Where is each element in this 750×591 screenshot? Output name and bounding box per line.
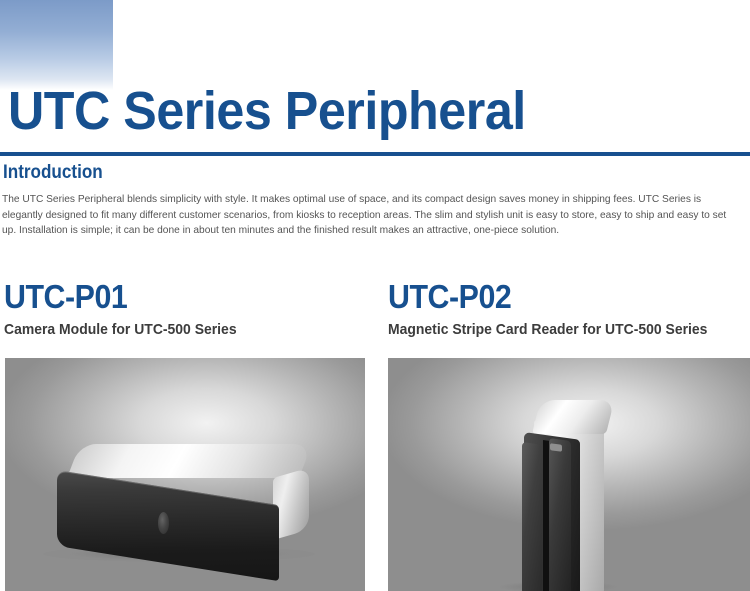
page-title: UTC Series Peripheral: [8, 84, 526, 138]
product-brochure-page: UTC Series Peripheral Introduction The U…: [0, 0, 750, 591]
product-model-utc-p02: UTC-P02: [388, 280, 721, 313]
introduction-body-text: The UTC Series Peripheral blends simplic…: [2, 192, 728, 239]
product-block-utc-p02: UTC-P02 Magnetic Stripe Card Reader for …: [388, 280, 750, 337]
card-reader-read-head-icon: [550, 443, 562, 452]
product-description-utc-p02: Magnetic Stripe Card Reader for UTC-500 …: [388, 322, 725, 337]
camera-module-illustration: [57, 444, 309, 554]
product-description-utc-p01: Camera Module for UTC-500 Series: [4, 322, 344, 337]
introduction-heading: Introduction: [3, 162, 103, 184]
camera-lens-icon: [158, 512, 169, 534]
product-model-utc-p01: UTC-P01: [4, 280, 341, 313]
card-reader-top-cap: [532, 400, 614, 434]
header-gradient-block: [0, 0, 113, 90]
product-photo-utc-p02: [388, 358, 750, 591]
card-reader-rear-rail: [549, 438, 571, 591]
card-reader-front-rail: [522, 442, 542, 591]
camera-top-surface: [67, 444, 312, 478]
product-block-utc-p01: UTC-P01 Camera Module for UTC-500 Series: [4, 280, 370, 337]
card-reader-illustration: [516, 398, 616, 591]
title-divider-rule: [0, 152, 750, 156]
product-photo-utc-p01: [5, 358, 365, 591]
